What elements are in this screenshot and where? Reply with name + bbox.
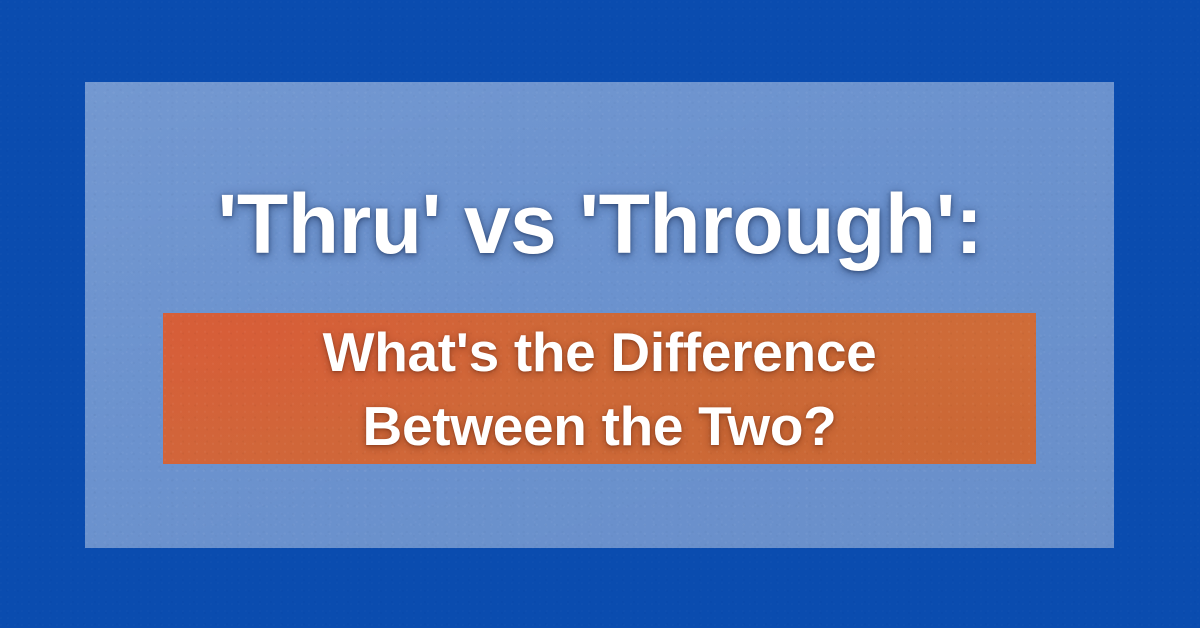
subtitle-line-1: What's the Difference	[323, 315, 877, 389]
subtitle-block: What's the Difference Between the Two?	[163, 313, 1036, 464]
page-title: 'Thru' vs 'Through':	[0, 182, 1200, 266]
subtitle-line-2: Between the Two?	[363, 389, 837, 463]
poster-canvas: 'Thru' vs 'Through': What's the Differen…	[0, 0, 1200, 628]
